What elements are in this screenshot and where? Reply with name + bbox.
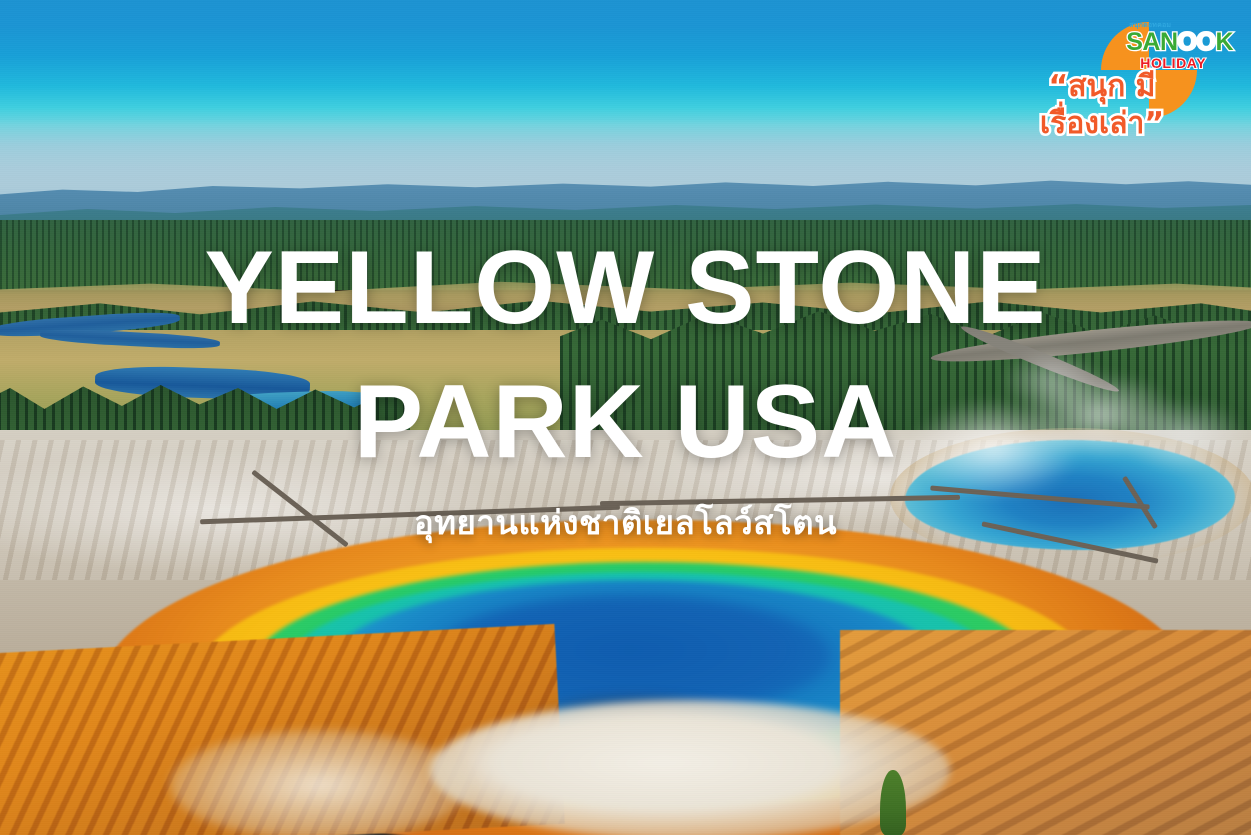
sanook-suffix: K xyxy=(1215,28,1233,56)
sanook-holiday-logo[interactable]: สนุกดอทคอม SANOOK HOLIDAY “สนุก มี เรื่อ… xyxy=(1011,8,1239,156)
tagline-text-1: สนุก มี xyxy=(1068,69,1155,104)
sanook-wordmark: สนุกดอทคอม SANOOK HOLIDAY xyxy=(1126,22,1233,70)
tagline-line-2: เรื่องเล่า” xyxy=(1017,107,1187,140)
page-subtitle-thai: อุทยานแห่งชาติเยลโลว์สโตน xyxy=(0,496,1251,549)
smiley-eyes-icon: OO xyxy=(1178,28,1216,56)
page-title-line-2: PARK USA xyxy=(0,372,1251,474)
sanook-brand-name: SANOOK xyxy=(1126,30,1233,55)
tagline-text-2: เรื่องเล่า xyxy=(1040,106,1145,141)
brand-tagline: “สนุก มี เรื่องเล่า” xyxy=(1017,70,1187,140)
holiday-sublabel: HOLIDAY xyxy=(1140,56,1233,70)
open-quote-icon: “ xyxy=(1049,69,1069,104)
white-mineral-pan xyxy=(170,730,470,835)
sanook-prefix: SAN xyxy=(1126,28,1177,56)
poster-title-block: YELLOW STONE PARK USA อุทยานแห่งชาติเยลโ… xyxy=(0,238,1251,549)
poster-canvas: YELLOW STONE PARK USA อุทยานแห่งชาติเยลโ… xyxy=(0,0,1251,835)
page-title-line-1: YELLOW STONE xyxy=(0,238,1251,340)
white-mineral-pan xyxy=(430,700,950,835)
close-quote-icon: ” xyxy=(1144,106,1164,141)
tagline-line-1: “สนุก มี xyxy=(1017,70,1187,103)
